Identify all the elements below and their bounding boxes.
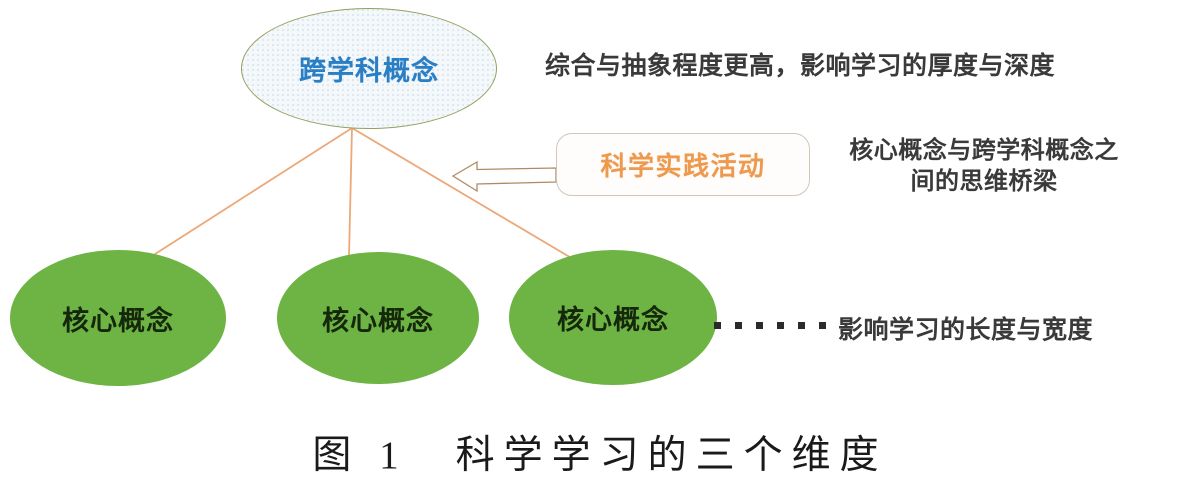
practice-arrow-icon — [453, 162, 556, 191]
annotation-length-width: 影响学习的长度与宽度 — [838, 310, 1093, 346]
ellipsis-dot — [756, 322, 763, 329]
annotation-depth: 综合与抽象程度更高，影响学习的厚度与深度 — [545, 46, 1055, 82]
node-core-concept-2[interactable]: 核心概念 — [277, 252, 479, 384]
node-core-concept-3-label: 核心概念 — [557, 298, 669, 337]
node-core-concept-2-label: 核心概念 — [322, 299, 434, 338]
node-crosscutting-concept[interactable]: 跨学科概念 — [241, 8, 497, 129]
ellipsis-dots — [714, 322, 826, 329]
ellipsis-dot — [798, 322, 805, 329]
node-core-concept-1[interactable]: 核心概念 — [10, 250, 226, 386]
figure-caption: 图 1 科学学习的三个维度 — [0, 424, 1200, 480]
connector-line-middle — [349, 128, 352, 257]
node-science-practice[interactable]: 科学实践活动 — [556, 133, 810, 196]
ellipsis-dot — [714, 322, 721, 329]
node-crosscutting-concept-label: 跨学科概念 — [299, 49, 439, 88]
ellipsis-dot — [819, 322, 826, 329]
connector-line-left — [152, 128, 352, 256]
figure-container: 跨学科概念 核心概念 核心概念 核心概念 科学实践活动 综合与抽象程度更高，影响… — [0, 0, 1200, 489]
connector-line-right — [352, 128, 573, 259]
node-core-concept-1-label: 核心概念 — [62, 299, 174, 338]
annotation-thinking-bridge-line-1: 核心概念与跨学科概念之 — [838, 136, 1130, 167]
node-core-concept-3[interactable]: 核心概念 — [509, 250, 717, 385]
annotation-thinking-bridge-line-2: 间的思维桥梁 — [838, 167, 1130, 198]
ellipsis-dot — [777, 322, 784, 329]
ellipsis-dot — [735, 322, 742, 329]
node-science-practice-label: 科学实践活动 — [600, 146, 765, 183]
annotation-thinking-bridge: 核心概念与跨学科概念之 间的思维桥梁 — [838, 136, 1130, 197]
